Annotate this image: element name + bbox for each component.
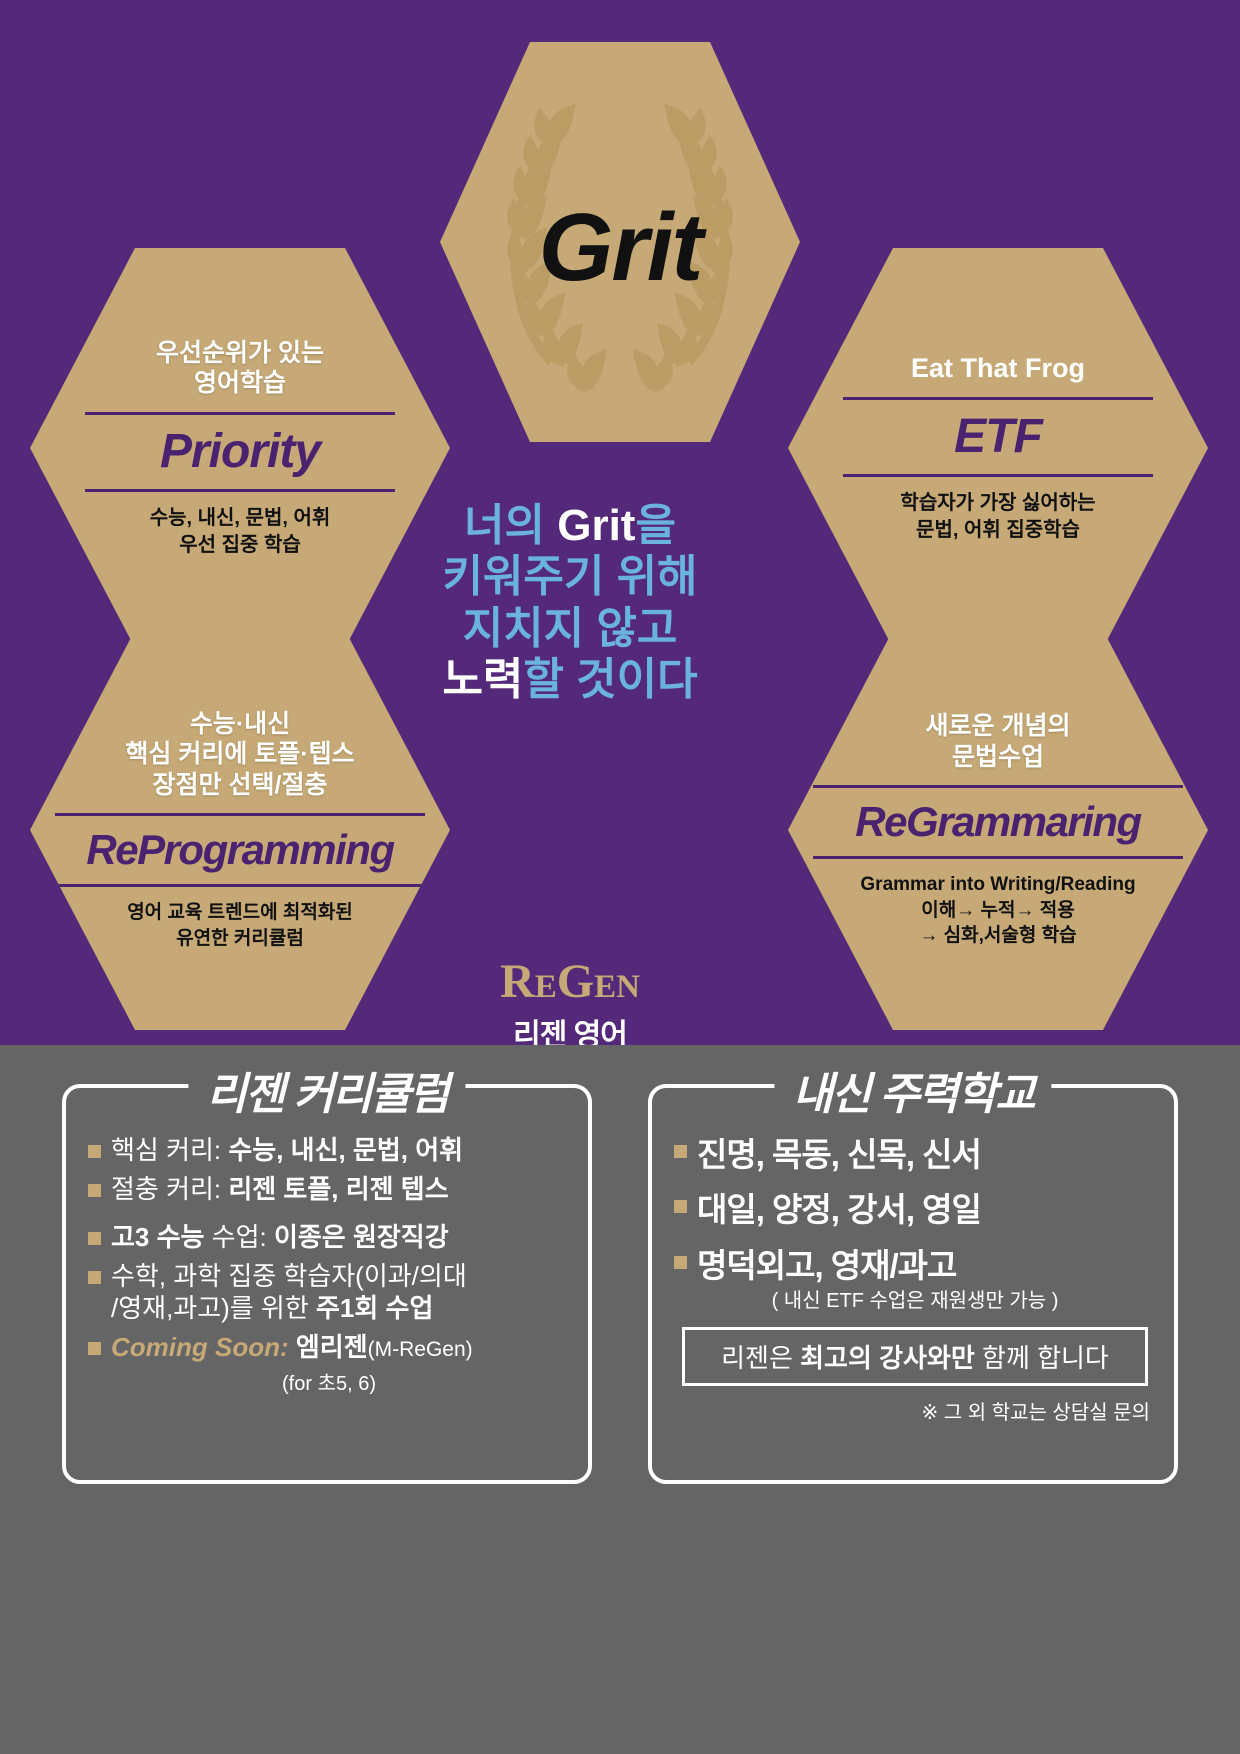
- slogan-l1-a: 너의: [464, 501, 557, 550]
- item2-bold: 리젠 토플, 리젠 텝스: [228, 1174, 448, 1204]
- list-item: 핵심 커리: 수능, 내신, 문법, 어휘: [88, 1134, 570, 1167]
- divider-bottom: [85, 489, 396, 492]
- item3-lead: 수업:: [204, 1222, 274, 1252]
- instructor-highlight-box: 리젠은 최고의 강사와만 함께 합니다: [682, 1327, 1148, 1386]
- bullet-square-icon: [88, 1145, 101, 1158]
- schools-note: ( 내신 ETF 수업은 재원생만 가능 ): [674, 1284, 1156, 1313]
- list-item: 대일, 양정, 강서, 영일: [674, 1189, 1156, 1230]
- regrammaring-title: ReGrammaring: [813, 801, 1183, 843]
- etf-desc-line2: 문법, 어휘 집중학습: [843, 517, 1154, 544]
- priority-subtitle-line2: 영어학습: [85, 368, 396, 399]
- divider-bottom: [813, 856, 1183, 859]
- priority-desc-line1: 수능, 내신, 문법, 어휘: [85, 505, 396, 532]
- slogan-line-4: 노력할 것이다: [400, 654, 740, 705]
- regen-letters-en: EN: [594, 969, 640, 1005]
- regen-korean-name: 리젠 영어: [400, 1010, 740, 1045]
- bullet-square-icon: [674, 1200, 687, 1213]
- list-item: 고3 수능 수업: 이종은 원장직강: [88, 1221, 570, 1254]
- regrammaring-subtitle-line2: 문법수업: [813, 742, 1183, 773]
- list-item: 진명, 목동, 신목, 신서: [674, 1134, 1156, 1175]
- divider-bottom: [55, 884, 425, 887]
- slogan-l4-a: 노력: [442, 655, 523, 704]
- item3-leadbold: 고3 수능: [111, 1222, 204, 1252]
- slogan-l4-b: 할 것이다: [523, 655, 697, 704]
- coming-soon-label: Coming Soon:: [111, 1332, 289, 1362]
- item4-lead: 수학, 과학 집중 학습자(이과/의대: [111, 1261, 467, 1291]
- priority-title: Priority: [85, 428, 396, 476]
- slogan-line-2: 키워주기 위해: [400, 551, 740, 602]
- item5-lead: 엠리젠: [289, 1332, 368, 1362]
- regen-letter-g: G: [557, 955, 594, 1008]
- highlight-a: 리젠은: [721, 1343, 800, 1373]
- panel-schools: 내신 주력학교 진명, 목동, 신목, 신서 대일, 양정, 강서, 영일 명덕…: [648, 1084, 1178, 1484]
- panel-curriculum: 리젠 커리큘럼 핵심 커리: 수능, 내신, 문법, 어휘 절충 커리: 리젠 …: [62, 1084, 592, 1484]
- hexagon-priority[interactable]: 우선순위가 있는 영어학습 Priority 수능, 내신, 문법, 어휘 우선…: [30, 248, 450, 648]
- schools-list: 진명, 목동, 신목, 신서 대일, 양정, 강서, 영일 명덕외고, 영재/과…: [652, 1088, 1174, 1439]
- etf-desc-line1: 학습자가 가장 싫어하는: [843, 490, 1154, 517]
- curriculum-item-4: 수학, 과학 집중 학습자(이과/의대/영재,과고)를 위한 주1회 수업: [111, 1260, 467, 1325]
- slogan-line-1: 너의 Grit을: [400, 500, 740, 551]
- item4-bold: 주1회 수업: [316, 1293, 433, 1323]
- list-item: 절충 커리: 리젠 토플, 리젠 텝스: [88, 1173, 570, 1206]
- hexagon-reprogramming[interactable]: 수능·내신 핵심 커리에 토플·텝스 장점만 선택/절충 ReProgrammi…: [30, 630, 450, 1030]
- item3-bold: 이종은 원장직강: [274, 1222, 449, 1252]
- regrammaring-desc-line3: → 심화,서술형 학습: [813, 923, 1183, 949]
- hero-section: Grit 우선순위가 있는 영어학습 Priority 수능, 내신, 문법, …: [0, 0, 1240, 1045]
- curriculum-item-1: 핵심 커리: 수능, 내신, 문법, 어휘: [111, 1134, 463, 1167]
- divider-top: [55, 813, 425, 816]
- reprogramming-subtitle-line3: 장점만 선택/절충: [55, 770, 425, 801]
- curriculum-panel-title: 리젠 커리큘럼: [188, 1058, 465, 1122]
- schools-item-2: 대일, 양정, 강서, 영일: [697, 1189, 981, 1230]
- regen-wordmark: REGEN: [400, 958, 740, 1006]
- divider-top: [813, 785, 1183, 788]
- divider-top: [85, 412, 396, 415]
- schools-item-1: 진명, 목동, 신목, 신서: [697, 1134, 981, 1175]
- curriculum-subnote: (for 초5, 6): [88, 1367, 570, 1396]
- poster-root: Grit 우선순위가 있는 영어학습 Priority 수능, 내신, 문법, …: [0, 0, 1240, 1754]
- item5-paren: (M-ReGen): [368, 1338, 473, 1361]
- hexagon-regrammaring[interactable]: 새로운 개념의 문법수업 ReGrammaring Grammar into W…: [788, 630, 1208, 1030]
- bullet-square-icon: [674, 1145, 687, 1158]
- regen-letter-r: R: [500, 955, 535, 1008]
- priority-desc-line2: 우선 집중 학습: [85, 532, 396, 559]
- reprogramming-subtitle-line1: 수능·내신: [55, 709, 425, 740]
- item4-line2: /영재,과고)를 위한: [111, 1293, 316, 1323]
- curriculum-item-5: Coming Soon: 엠리젠(M-ReGen): [111, 1331, 473, 1364]
- list-item: Coming Soon: 엠리젠(M-ReGen): [88, 1331, 570, 1364]
- reprogramming-desc-line2: 유연한 커리큘럼: [55, 926, 425, 952]
- bullet-square-icon: [88, 1342, 101, 1355]
- curriculum-list: 핵심 커리: 수능, 내신, 문법, 어휘 절충 커리: 리젠 토플, 리젠 텝…: [66, 1088, 588, 1410]
- curriculum-item-2: 절충 커리: 리젠 토플, 리젠 텝스: [111, 1173, 449, 1206]
- center-slogan: 너의 Grit을 키워주기 위해 지치지 않고 노력할 것이다: [400, 500, 740, 706]
- regrammaring-desc-line2: 이해→ 누적→ 적용: [813, 898, 1183, 924]
- schools-footnote: ※ 그 외 학교는 상담실 문의: [674, 1396, 1156, 1425]
- schools-item-3: 명덕외고, 영재/과고: [697, 1245, 956, 1286]
- slogan-line-3: 지치지 않고: [400, 603, 740, 654]
- hexagon-etf[interactable]: Eat That Frog ETF 학습자가 가장 싫어하는 문법, 어휘 집중…: [788, 248, 1208, 648]
- regrammaring-desc-line1: Grammar into Writing/Reading: [813, 872, 1183, 898]
- etf-title: ETF: [843, 413, 1154, 461]
- bullet-square-icon: [88, 1232, 101, 1245]
- slogan-l1-grit: Grit: [557, 501, 635, 550]
- bullet-square-icon: [88, 1271, 101, 1284]
- reprogramming-title: ReProgramming: [55, 829, 425, 871]
- bullet-square-icon: [88, 1184, 101, 1197]
- reprogramming-desc-line1: 영어 교육 트렌드에 최적화된: [55, 900, 425, 926]
- grit-wordmark: Grit: [539, 193, 702, 303]
- list-item: 명덕외고, 영재/과고: [674, 1245, 1156, 1286]
- regen-logo[interactable]: REGEN 리젠 영어: [400, 958, 740, 1045]
- curriculum-item-3: 고3 수능 수업: 이종은 원장직강: [111, 1221, 449, 1254]
- highlight-b: 최고의 강사와만: [800, 1343, 975, 1373]
- item1-bold: 수능, 내신, 문법, 어휘: [228, 1135, 463, 1165]
- divider-top: [843, 397, 1154, 400]
- regen-letter-e: E: [535, 969, 557, 1005]
- divider-bottom: [843, 474, 1154, 477]
- reprogramming-subtitle-line2: 핵심 커리에 토플·텝스: [55, 739, 425, 770]
- schools-panel-title: 내신 주력학교: [774, 1058, 1051, 1122]
- item2-lead: 절충 커리:: [111, 1174, 228, 1204]
- etf-subtitle: Eat That Frog: [843, 352, 1154, 384]
- item1-lead: 핵심 커리:: [111, 1135, 228, 1165]
- slogan-l1-c: 을: [635, 501, 675, 550]
- bullet-square-icon: [674, 1256, 687, 1269]
- priority-subtitle-line1: 우선순위가 있는: [85, 338, 396, 369]
- regrammaring-subtitle-line1: 새로운 개념의: [813, 711, 1183, 742]
- list-item: 수학, 과학 집중 학습자(이과/의대/영재,과고)를 위한 주1회 수업: [88, 1260, 570, 1325]
- grit-badge-hexagon: Grit: [440, 42, 800, 442]
- highlight-c: 함께 합니다: [975, 1343, 1109, 1373]
